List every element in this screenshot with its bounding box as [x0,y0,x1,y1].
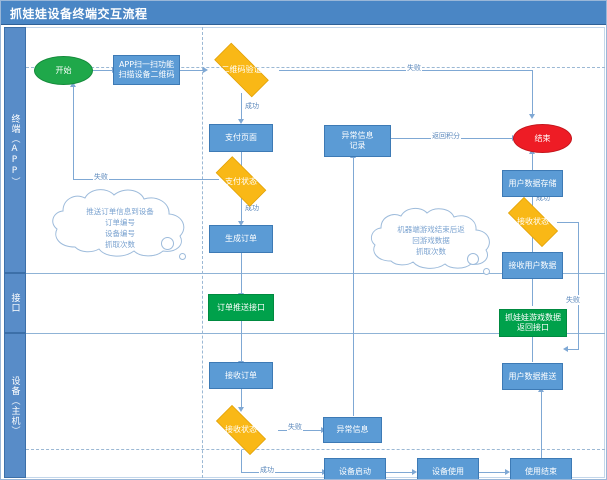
connector-errorinfo-errorlog [353,157,354,416]
cloud-annotation-order-push: 推送订单信息到设备 订单编号 设备编号 抓取次数 [45,185,195,263]
connector-gameapi-recvuser [532,278,533,306]
connector-pay-fail-up [73,87,74,180]
phase-separator-vertical [202,27,203,478]
node-pay-status[interactable]: 支付状态 [207,165,275,198]
cloud-annotation-game-return: 机器端游戏结束后返 回游戏数据 抓取次数 [365,205,497,277]
node-recv-status-right-label: 接收状态 [499,206,567,238]
edge-label-recv-bottom-success: 成功 [259,465,275,475]
edge-label-qr-fail: 失败 [406,63,422,73]
node-end[interactable]: 结束 [513,124,572,153]
connector-scan-qr [180,70,204,71]
edge-label-qr-success: 成功 [244,101,260,111]
connector-deviceuse-useend [479,472,506,473]
node-start[interactable]: 开始 [34,56,93,85]
connector-api-recvorder [241,321,242,363]
flowchart-window: 抓娃娃设备终端交互流程 终端（APP） 接口 设备（主机） 失败 [0,0,607,480]
phase-separator-bottom [26,449,605,450]
node-pay-page[interactable]: 支付页面 [209,124,273,152]
connector-useend-userpush [541,391,542,459]
swimlane-header-terminal: 终端（APP） [4,27,26,273]
connector-devicestart-deviceuse [386,472,413,473]
edge-label-error-return: 返回积分 [431,131,461,141]
connector-status-devicestart [241,472,324,473]
page-title: 抓娃娃设备终端交互流程 [10,5,148,22]
connector-userstore-end [532,153,533,170]
node-user-data-push[interactable]: 用户数据推送 [502,363,563,390]
cloud-bubble-large-2 [467,253,479,265]
node-error-info[interactable]: 异常信息 [323,417,382,443]
swimlane-label-interface: 接口 [9,293,22,313]
diagram-canvas: 终端（APP） 接口 设备（主机） 失败 成功 [1,25,607,480]
node-recv-status-bottom-label: 接收状态 [207,414,275,446]
node-recv-order[interactable]: 接收订单 [209,362,273,389]
connector-userpush-gameapi [532,336,533,362]
arrowhead-qr-fail [529,114,535,119]
node-recv-user-data[interactable]: 接收用户数据 [502,252,563,279]
connector-qr-pay [241,93,242,120]
swimlane-label-device: 设备（主机） [9,376,22,436]
node-pay-status-label: 支付状态 [207,165,275,198]
cloud-bubble-large [161,237,174,250]
cloud-bubble-small-2 [483,268,490,275]
swimlane-header-interface: 接口 [4,273,26,333]
connector-status-fail-in [567,349,579,350]
node-device-start[interactable]: 设备启动 [324,458,386,480]
node-order-push-api[interactable]: 订单推送接口 [208,294,274,321]
node-qr-verify-label: 二维码验证 [204,53,279,87]
connector-start-scan [93,70,113,71]
node-device-use[interactable]: 设备使用 [417,458,479,480]
node-game-data-api[interactable]: 抓娃娃游戏数据 返回接口 [499,309,567,337]
arrowhead-status-fail [563,346,568,352]
connector-status-fail-down [578,222,579,349]
edge-label-recv-right-fail: 失败 [565,295,581,305]
node-create-order[interactable]: 生成订单 [209,225,273,253]
connector-status-down [241,450,242,472]
node-qr-verify[interactable]: 二维码验证 [204,53,279,87]
swimlane-label-terminal: 终端（APP） [9,114,22,187]
edge-label-pay-success: 成功 [244,203,260,213]
node-use-end[interactable]: 使用结束 [510,458,572,480]
connector-qr-fail-down [532,70,533,116]
node-recv-status-right[interactable]: 接收状态 [499,206,567,238]
swimlane-header-device: 设备（主机） [4,333,26,478]
node-error-log[interactable]: 异常信息 记录 [324,125,391,157]
cloud-text-game-return: 机器端游戏结束后返 回游戏数据 抓取次数 [365,225,497,258]
connector-recvorder-status [241,389,242,409]
connector-order-api [241,253,242,295]
cloud-bubble-small [179,253,186,260]
node-recv-status-bottom[interactable]: 接收状态 [207,414,275,446]
node-scan-qr[interactable]: APP扫一扫功能 扫描设备二维码 [113,55,180,85]
node-user-data-store[interactable]: 用户数据存储 [502,170,563,197]
edge-label-pay-fail: 失败 [93,172,109,182]
window-titlebar: 抓娃娃设备终端交互流程 [1,1,607,25]
edge-label-recv-bottom-fail: 失败 [287,422,303,432]
connector-pay-order [241,198,242,222]
